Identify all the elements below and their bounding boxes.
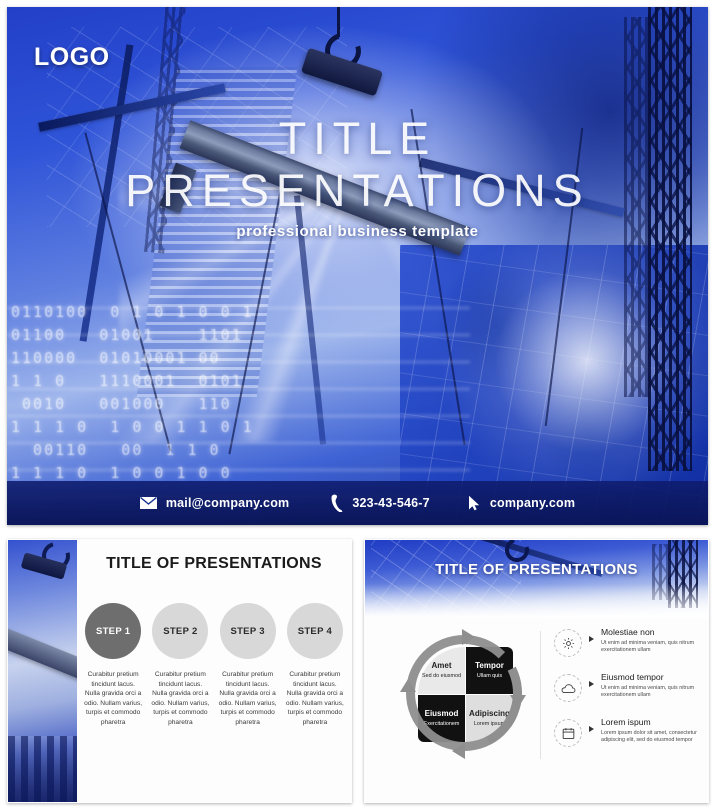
envelope-icon (140, 497, 157, 509)
step-description-2: Curabitur pretium tincidunt lacus. Nulla… (151, 670, 209, 728)
slide3-header-image (365, 540, 708, 618)
page-title: TITLE PRESENTATIONS (7, 113, 708, 217)
step-description-4: Curabitur pretium tincidunt lacus. Nulla… (286, 670, 344, 728)
presentation-template-page: 0110100 0 1 0 1 0 0 1 01100 01001 1101 1… (0, 0, 716, 810)
title-slide[interactable]: 0110100 0 1 0 1 0 0 1 01100 01001 1101 1… (7, 7, 708, 525)
list-item-body: Ut enim ad minima veniam, quis nitrum ex… (601, 685, 702, 700)
contact-phone-label: 323-43-546-7 (352, 496, 429, 510)
step-circle-2[interactable]: STEP 2 (152, 603, 208, 659)
step-description-3: Curabitur pretium tincidunt lacus. Nulla… (219, 670, 277, 728)
contact-email-label: mail@company.com (166, 496, 290, 510)
caret-right-icon (589, 726, 594, 732)
steps-row: STEP 1 Curabitur pretium tincidunt lacus… (83, 603, 345, 728)
page-title-line1: TITLE (7, 113, 708, 165)
contact-website[interactable]: company.com (468, 495, 575, 511)
list-item-heading: Molestiae non (601, 627, 702, 638)
contact-website-label: company.com (490, 496, 575, 510)
step-item-4[interactable]: STEP 4 Curabitur pretium tincidunt lacus… (285, 603, 345, 728)
page-subtitle: professional business template (7, 223, 708, 240)
step-circle-1[interactable]: STEP 1 (85, 603, 141, 659)
page-title-line2: PRESENTATIONS (7, 165, 708, 217)
list-item-heading: Eiusmod tempor (601, 672, 702, 683)
list-item[interactable]: Lorem ispum Lorem ipsum dolor sit amet, … (554, 717, 702, 747)
list-item-body: Ut enim ad minima veniam, quis nitrum ex… (601, 640, 702, 655)
list-item-body: Lorem ipsum dolor sit amet, consectetur … (601, 730, 702, 745)
cycle-diagram[interactable]: Amet Sed do eiusmod Tempor Ullam quis Ei… (406, 635, 522, 751)
cycle-arrow-bottom-icon (452, 743, 465, 759)
list-item[interactable]: Molestiae non Ut enim ad minima veniam, … (554, 627, 702, 657)
step-description-1: Curabitur pretium tincidunt lacus. Nulla… (84, 670, 142, 728)
calendar-icon (554, 719, 582, 747)
caret-right-icon (589, 636, 594, 642)
caret-right-icon (589, 681, 594, 687)
steps-slide[interactable]: TITLE OF PRESENTATIONS STEP 1 Curabitur … (7, 539, 352, 803)
city-skyline (8, 736, 77, 802)
list-item-heading: Lorem ispum (601, 717, 702, 728)
step-item-2[interactable]: STEP 2 Curabitur pretium tincidunt lacus… (150, 603, 210, 728)
phone-icon (331, 494, 343, 512)
list-item-text: Eiusmod tempor Ut enim ad minima veniam,… (601, 672, 702, 700)
slide3-title: TITLE OF PRESENTATIONS (364, 561, 709, 578)
cycle-slide[interactable]: TITLE OF PRESENTATIONS Amet Sed do eiusm… (364, 539, 709, 803)
gear-icon (554, 629, 582, 657)
list-item-text: Molestiae non Ut enim ad minima veniam, … (601, 627, 702, 655)
slide2-title: TITLE OF PRESENTATIONS (85, 555, 343, 573)
contact-phone[interactable]: 323-43-546-7 (331, 494, 429, 512)
cloud-icon (554, 674, 582, 702)
feature-list: Molestiae non Ut enim ad minima veniam, … (554, 627, 702, 762)
contact-email[interactable]: mail@company.com (140, 496, 290, 510)
step-item-1[interactable]: STEP 1 Curabitur pretium tincidunt lacus… (83, 603, 143, 728)
side-image-strip (8, 540, 77, 802)
steel-beam (8, 623, 77, 694)
step-circle-4[interactable]: STEP 4 (287, 603, 343, 659)
header-fade (365, 584, 708, 618)
contact-footer-bar: mail@company.com 323-43-546-7 company.co… (7, 481, 708, 525)
cycle-arrow-top-icon (462, 629, 475, 645)
vertical-divider (540, 631, 541, 759)
cycle-arrow-left-icon (400, 679, 416, 692)
cycle-arrow-right-icon (510, 695, 526, 708)
step-circle-3[interactable]: STEP 3 (220, 603, 276, 659)
list-item-text: Lorem ispum Lorem ipsum dolor sit amet, … (601, 717, 702, 745)
logo[interactable]: LOGO (34, 43, 110, 72)
cursor-arrow-icon (468, 495, 481, 511)
step-item-3[interactable]: STEP 3 Curabitur pretium tincidunt lacus… (218, 603, 278, 728)
list-item[interactable]: Eiusmod tempor Ut enim ad minima veniam,… (554, 672, 702, 702)
